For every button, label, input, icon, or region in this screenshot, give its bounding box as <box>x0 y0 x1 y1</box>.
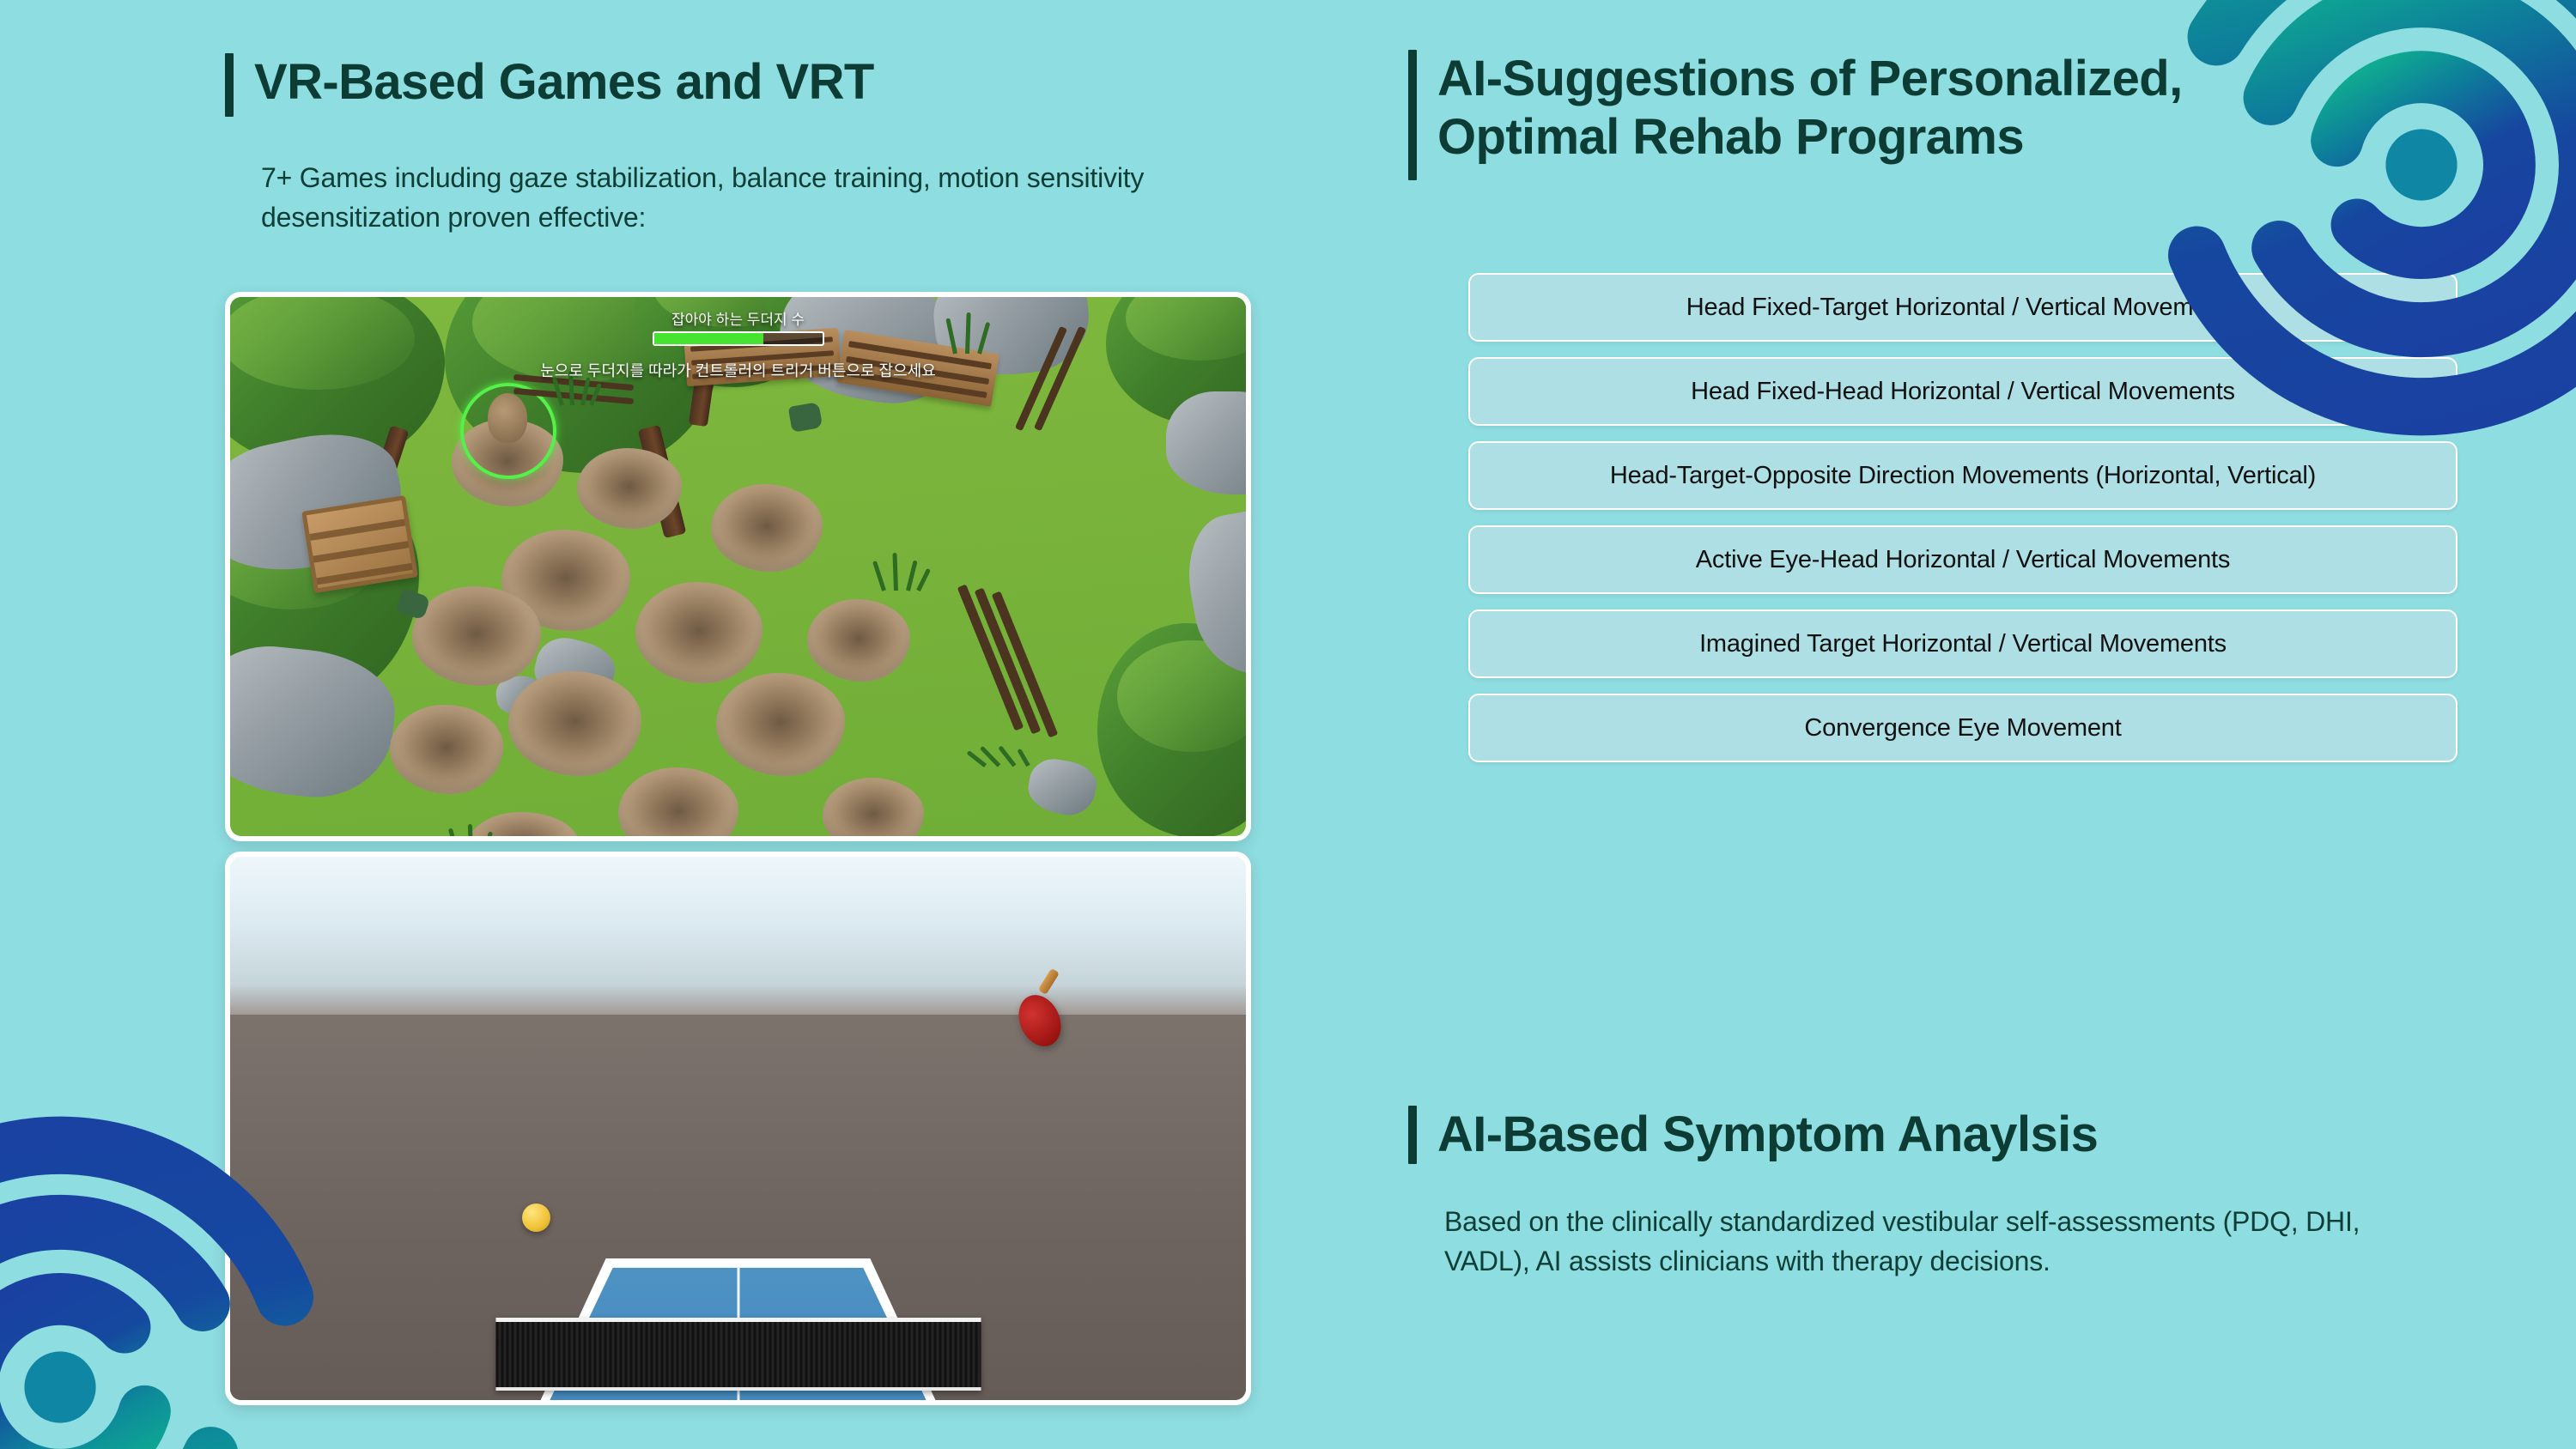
grass-tuft <box>981 737 1042 766</box>
mole-mound <box>508 671 641 776</box>
symptom-analysis-heading: AI-Based Symptom Anaylsis <box>1408 1106 2098 1164</box>
symptom-analysis-body: Based on the clinically standardized ves… <box>1444 1202 2415 1282</box>
table-tennis-scene <box>230 857 1246 1400</box>
mole-mound <box>807 599 910 682</box>
vr-games-heading: VR-Based Games and VRT <box>225 53 874 117</box>
program-card[interactable]: Imagined Target Horizontal / Vertical Mo… <box>1468 609 2458 678</box>
mole-mound <box>823 778 924 836</box>
rehab-program-list: Head Fixed-Target Horizontal / Vertical … <box>1468 273 2458 778</box>
hud-instruction: 눈으로 두더지를 따라가 컨트롤러의 트리거 버튼으로 잡으세요 <box>230 359 1246 381</box>
watering-can <box>788 402 823 433</box>
program-card-label: Imagined Target Horizontal / Vertical Mo… <box>1699 630 2227 658</box>
grass-tuft <box>878 553 927 591</box>
mole-mound <box>390 705 503 794</box>
hud-progress-fill <box>654 333 763 344</box>
mole-mound <box>716 673 845 776</box>
symptom-analysis-heading-text: AI-Based Symptom Anaylsis <box>1437 1106 2098 1164</box>
heading-accent-bar <box>225 53 234 117</box>
hud-progress-bar <box>653 331 824 346</box>
heading-accent-bar <box>1408 50 1417 180</box>
rock <box>1166 391 1246 494</box>
mole-highlight-ring <box>460 383 556 479</box>
ping-pong-ball <box>522 1203 550 1232</box>
forest-game-scene: 잡아야 하는 두더지 수 눈으로 두더지를 따라가 컨트롤러의 트리거 버튼으로… <box>230 297 1246 836</box>
program-card-label: Head Fixed-Target Horizontal / Vertical … <box>1686 294 2240 322</box>
program-card[interactable]: Convergence Eye Movement <box>1468 694 2458 762</box>
table-tennis-screenshot-panel <box>225 852 1251 1405</box>
heading-accent-bar <box>1408 1106 1417 1164</box>
wooden-crate <box>301 495 418 593</box>
program-card[interactable]: Head Fixed-Target Horizontal / Vertical … <box>1468 273 2458 342</box>
program-card-label: Active Eye-Head Horizontal / Vertical Mo… <box>1696 546 2230 574</box>
program-card-label: Head-Target-Opposite Direction Movements… <box>1610 462 2316 490</box>
right-column: AI-Suggestions of Personalized, Optimal … <box>1408 0 2464 1449</box>
program-card-label: Convergence Eye Movement <box>1804 714 2121 743</box>
program-card[interactable]: Head-Target-Opposite Direction Movements… <box>1468 441 2458 510</box>
mole-mound <box>711 484 823 572</box>
forest-game-screenshot-panel: 잡아야 하는 두더지 수 눈으로 두더지를 따라가 컨트롤러의 트리거 버튼으로… <box>225 292 1251 841</box>
left-column: VR-Based Games and VRT 7+ Games includin… <box>225 0 1264 1449</box>
program-card-label: Head Fixed-Head Horizontal / Vertical Mo… <box>1691 378 2235 406</box>
mole-mound <box>618 767 738 836</box>
mole-mound <box>412 586 541 686</box>
ai-suggestions-heading-line2: Optimal Rehab Programs <box>1437 108 2183 167</box>
program-card[interactable]: Active Eye-Head Horizontal / Vertical Mo… <box>1468 525 2458 594</box>
program-card[interactable]: Head Fixed-Head Horizontal / Vertical Mo… <box>1468 357 2458 426</box>
mole-mound <box>577 448 682 529</box>
vr-games-heading-text: VR-Based Games and VRT <box>254 53 874 117</box>
ai-suggestions-heading: AI-Suggestions of Personalized, Optimal … <box>1408 50 2183 180</box>
ai-suggestions-heading-line1: AI-Suggestions of Personalized, <box>1437 50 2183 108</box>
table-net <box>495 1318 981 1391</box>
room-ceiling <box>230 857 1246 1020</box>
mole-mound <box>635 582 762 683</box>
grass-tuft <box>452 824 503 836</box>
vr-games-subtitle: 7+ Games including gaze stabilization, b… <box>261 158 1214 238</box>
hud-title: 잡아야 하는 두더지 수 <box>230 307 1246 329</box>
